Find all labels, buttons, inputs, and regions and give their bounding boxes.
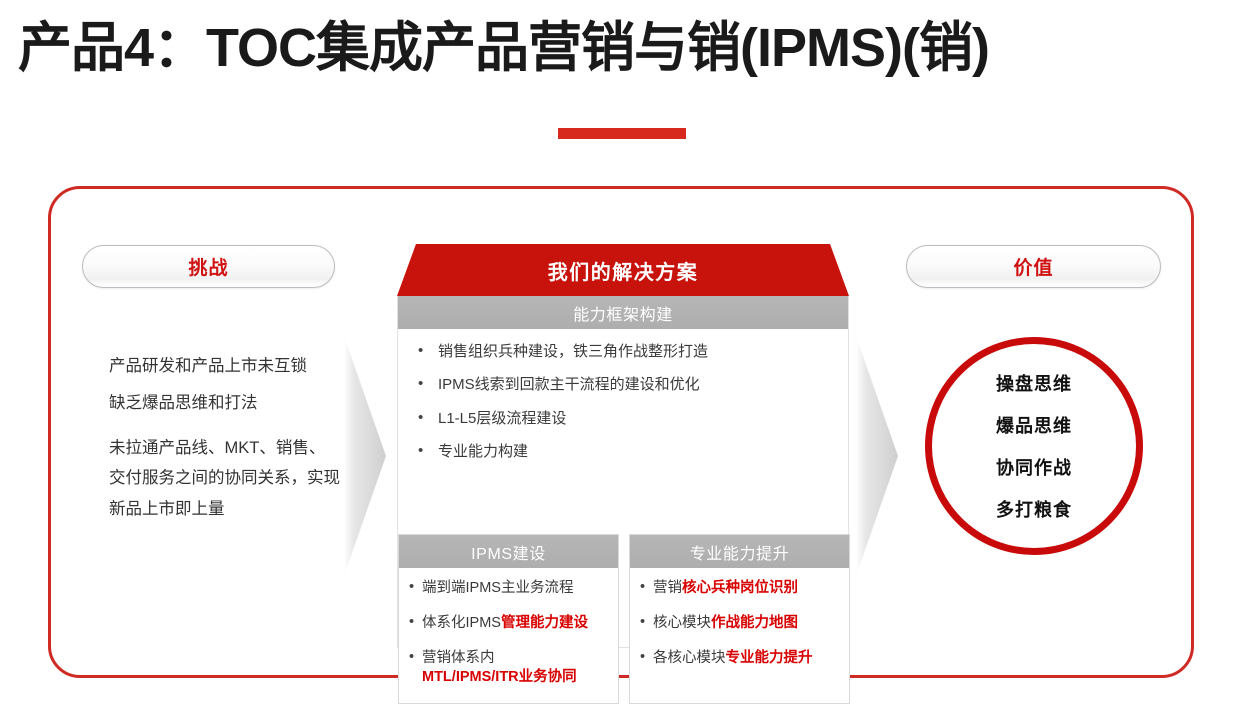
list-item: L1-L5层级流程建设 [412, 410, 838, 427]
item-plain: 营销体系内 [422, 650, 495, 666]
page-title: 产品4：TOC集成产品营销与销(IPMS)(销) [18, 16, 1228, 81]
list-item: IPMS线索到回款主干流程的建设和优化 [412, 376, 838, 393]
solution-panel: 我们的解决方案 能力框架构建 销售组织兵种建设，铁三角作战整形打造 IPMS线索… [397, 244, 849, 648]
challenge-block-text: 未拉通产品线、MKT、销售、交付服务之间的协同关系，实现新品上市即上量 [109, 433, 341, 525]
item-highlight-block: MTL/IPMS/ITR业务协同 [422, 668, 610, 687]
solution-body: 能力框架构建 销售组织兵种建设，铁三角作战整形打造 IPMS线索到回款主干流程的… [397, 296, 849, 648]
list-item: 销售组织兵种建设，铁三角作战整形打造 [412, 343, 838, 360]
list-item: 各核心模块专业能力提升 [638, 649, 841, 668]
item-highlight: 作战能力地图 [711, 615, 798, 631]
item-plain: 营销 [653, 580, 682, 596]
list-item: 端到端IPMS主业务流程 [407, 579, 610, 598]
value-item: 协同作战 [996, 454, 1072, 480]
value-circle: 操盘思维 爆品思维 协同作战 多打粮食 [925, 337, 1143, 555]
challenge-text-block: 产品研发和产品上市未互锁 缺乏爆品思维和打法 未拉通产品线、MKT、销售、交付服… [109, 358, 341, 524]
list-item: 核心模块作战能力地图 [638, 614, 841, 633]
framework-bullet-list: 销售组织兵种建设，铁三角作战整形打造 IPMS线索到回款主干流程的建设和优化 L… [398, 330, 848, 474]
item-plain: 各核心模块 [653, 650, 726, 666]
slide-root: 产品4：TOC集成产品营销与销(IPMS)(销) 挑战 产品研发和产品上市未互锁… [0, 0, 1242, 716]
sub-panel-row: IPMS建设 端到端IPMS主业务流程 体系化IPMS管理能力建设 营销体系内M… [398, 534, 850, 704]
sub-panel-capability: 专业能力提升 营销核心兵种岗位识别 核心模块作战能力地图 各核心模块专业能力提升 [629, 534, 850, 704]
value-item: 爆品思维 [996, 412, 1072, 438]
sub-panel-band-label: IPMS建设 [471, 540, 546, 564]
sub-panel-list: 端到端IPMS主业务流程 体系化IPMS管理能力建设 营销体系内MTL/IPMS… [399, 569, 618, 710]
framework-band-label: 能力框架构建 [573, 301, 673, 325]
chevron-right-arrow-right [852, 330, 904, 582]
list-item: 专业能力构建 [412, 443, 838, 460]
value-pill: 价值 [906, 245, 1161, 288]
item-highlight: 专业能力提升 [726, 650, 813, 666]
challenge-pill-label: 挑战 [188, 253, 228, 280]
sub-panel-band: IPMS建设 [399, 535, 618, 569]
value-item: 多打粮食 [996, 496, 1072, 522]
list-item: 营销核心兵种岗位识别 [638, 579, 841, 598]
item-plain: 体系化IPMS [422, 615, 501, 631]
value-pill-label: 价值 [1013, 253, 1053, 280]
chevron-right-arrow-left [340, 330, 392, 582]
value-item: 操盘思维 [996, 370, 1072, 396]
solution-banner: 我们的解决方案 [397, 244, 849, 296]
item-highlight: 核心兵种岗位识别 [682, 580, 798, 596]
item-plain: 端到端IPMS主业务流程 [422, 580, 573, 596]
sub-panel-ipms: IPMS建设 端到端IPMS主业务流程 体系化IPMS管理能力建设 营销体系内M… [398, 534, 619, 704]
sub-panel-list: 营销核心兵种岗位识别 核心模块作战能力地图 各核心模块专业能力提升 [630, 569, 849, 692]
item-plain: 核心模块 [653, 615, 711, 631]
solution-banner-label: 我们的解决方案 [548, 256, 699, 285]
list-item: 营销体系内MTL/IPMS/ITR业务协同 [407, 649, 610, 687]
sub-panel-band-label: 专业能力提升 [690, 540, 790, 564]
framework-band: 能力框架构建 [398, 296, 848, 330]
challenge-pill: 挑战 [82, 245, 335, 288]
challenge-line-2: 缺乏爆品思维和打法 [109, 395, 341, 412]
list-item: 体系化IPMS管理能力建设 [407, 614, 610, 633]
title-accent-rule [558, 128, 686, 139]
item-highlight: 管理能力建设 [501, 615, 588, 631]
challenge-line-1: 产品研发和产品上市未互锁 [109, 358, 341, 375]
sub-panel-band: 专业能力提升 [630, 535, 849, 569]
